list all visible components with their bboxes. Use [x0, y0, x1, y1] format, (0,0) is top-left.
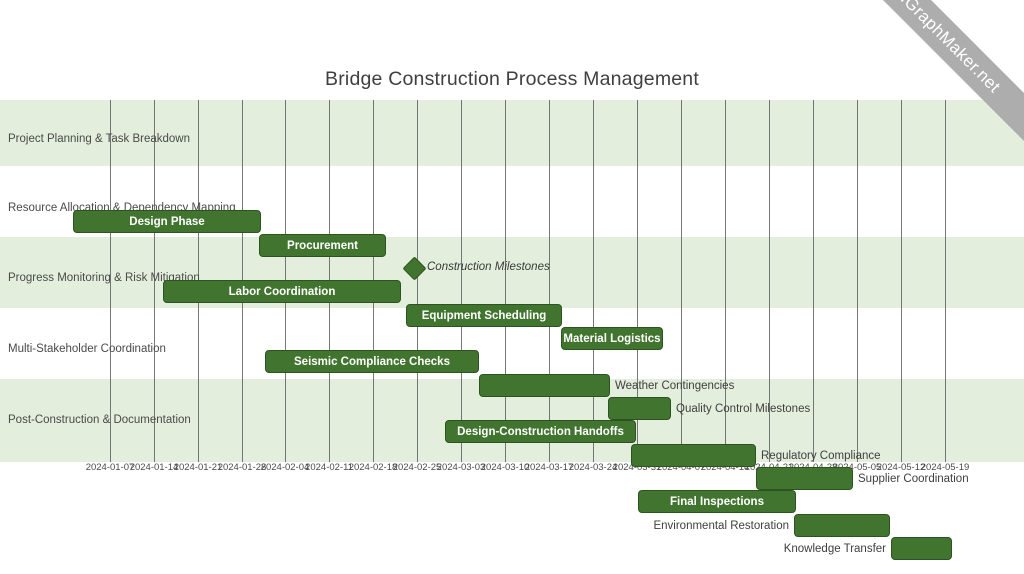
gantt-bar[interactable] [794, 514, 890, 537]
gantt-bar-label: Final Inspections [639, 491, 795, 512]
milestone-label: Construction Milestones [427, 261, 550, 273]
x-tick-label-8: 2024-03-03 [437, 462, 486, 473]
gantt-bar[interactable]: Material Logistics [561, 327, 663, 350]
milestone-diamond-icon[interactable] [402, 256, 426, 280]
x-tick-label-11: 2024-03-24 [569, 462, 618, 473]
gantt-bar-label: Seismic Compliance Checks [266, 351, 478, 372]
gantt-bar-label: Design-Construction Handoffs [446, 421, 635, 442]
gantt-bar-label: Design Phase [74, 211, 260, 232]
x-tick-label-9: 2024-03-10 [481, 462, 530, 473]
gantt-bar[interactable] [608, 397, 671, 420]
chart-title: Bridge Construction Process Management [0, 68, 1024, 91]
gantt-bar[interactable]: Equipment Scheduling [406, 304, 562, 327]
gantt-bar[interactable] [756, 467, 853, 490]
gantt-bar-label: Supplier Coordination [858, 467, 969, 490]
x-tick-label-10: 2024-03-17 [525, 462, 574, 473]
gantt-bars-layer: Design PhaseProcurementLabor Coordinatio… [0, 100, 1024, 462]
gantt-bar-label: Quality Control Milestones [676, 397, 810, 420]
gantt-bar[interactable]: Labor Coordination [163, 280, 401, 303]
x-tick-label-4: 2024-02-04 [261, 462, 310, 473]
x-tick-label-6: 2024-02-18 [349, 462, 398, 473]
gantt-bar[interactable] [631, 444, 756, 467]
x-tick-label-7: 2024-02-25 [393, 462, 442, 473]
x-tick-label-2: 2024-01-21 [174, 462, 223, 473]
gantt-bar-label: Material Logistics [562, 328, 662, 349]
gantt-bar-label: Equipment Scheduling [407, 305, 561, 326]
gantt-bar-label: Regulatory Compliance [761, 444, 881, 467]
gantt-bar-label: Weather Contingencies [615, 374, 734, 397]
gantt-chart-root: Bridge Construction Process Management P… [0, 0, 1024, 574]
gantt-bar-label: Procurement [260, 235, 385, 256]
gantt-bar-label: Knowledge Transfer [0, 537, 886, 560]
gantt-bar[interactable]: Design-Construction Handoffs [445, 420, 636, 443]
gantt-bar[interactable] [891, 537, 952, 560]
gantt-bar[interactable] [479, 374, 610, 397]
gantt-bar[interactable]: Seismic Compliance Checks [265, 350, 479, 373]
plot-area: Project Planning & Task BreakdownResourc… [0, 100, 1024, 462]
x-tick-label-1: 2024-01-14 [130, 462, 179, 473]
x-tick-label-5: 2024-02-11 [305, 462, 353, 473]
gantt-bar[interactable]: Final Inspections [638, 490, 796, 513]
gantt-bar-label: Labor Coordination [164, 281, 400, 302]
x-tick-label-0: 2024-01-07 [86, 462, 135, 473]
gantt-bar[interactable]: Procurement [259, 234, 386, 257]
gantt-bar[interactable]: Design Phase [73, 210, 261, 233]
x-tick-label-3: 2024-01-28 [218, 462, 267, 473]
gantt-bar-label: Environmental Restoration [0, 514, 789, 537]
